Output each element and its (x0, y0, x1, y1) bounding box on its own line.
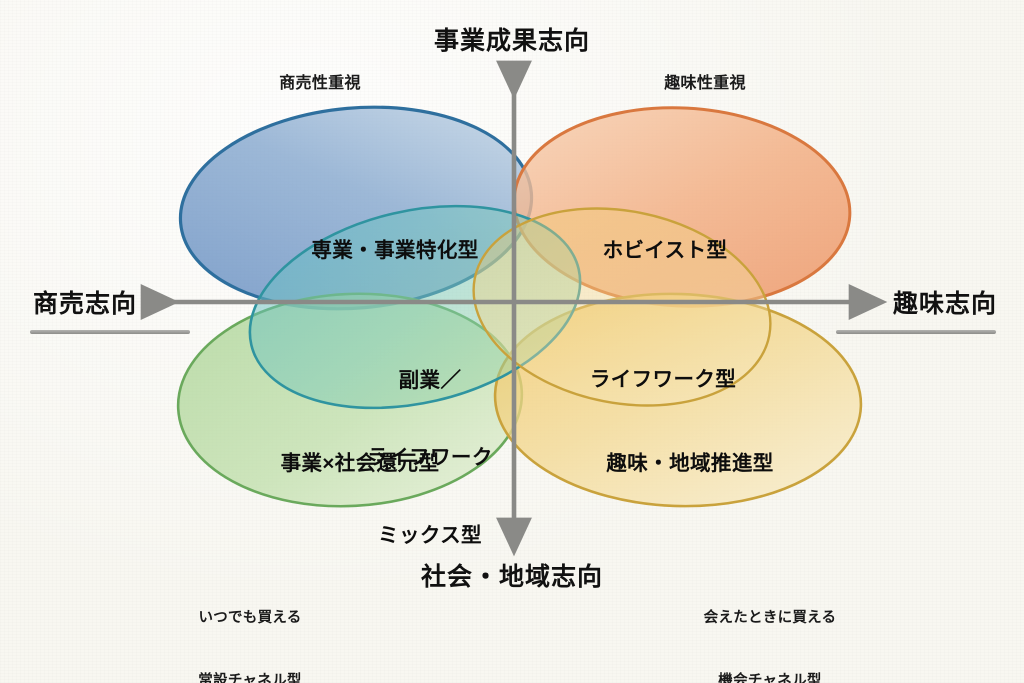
region-label-hobbyist: ホビイスト型 (555, 238, 775, 265)
bottom-right-line-1: 会えたときに買える (645, 608, 895, 629)
quadrant-note-top-right: 趣味性重視 (585, 74, 825, 94)
sidejob-mix-line-3: ミックス型 (330, 523, 530, 549)
quadrant-note-top-left: 商売性重視 (200, 74, 440, 94)
axis-left-underline (30, 330, 190, 334)
axis-right-underline (836, 330, 996, 334)
axis-label-left: 商売志向 (20, 288, 150, 320)
bottom-right-line-2: 機会チャネル型 (645, 671, 895, 683)
region-label-specialized: 専業・事業特化型 (270, 238, 520, 265)
region-label-lifework: ライフワーク型 (553, 367, 773, 394)
bottom-left-line-1: いつでも買える (125, 608, 375, 629)
region-label-hobby-local: 趣味・地域推進型 (555, 451, 825, 478)
quadrant-note-bottom-right: 会えたときに買える 機会チャネル型 (645, 566, 895, 683)
axis-label-right: 趣味志向 (880, 288, 1010, 320)
diagram-canvas: 事業成果志向 社会・地域志向 商売志向 趣味志向 商売性重視 趣味性重視 いつで… (0, 0, 1024, 683)
axis-label-top: 事業成果志向 (0, 25, 1024, 57)
sidejob-mix-line-1: 副業／ (330, 368, 530, 394)
region-label-business-social: 事業×社会還元型 (225, 451, 495, 478)
bottom-left-line-2: 常設チャネル型 (125, 671, 375, 683)
